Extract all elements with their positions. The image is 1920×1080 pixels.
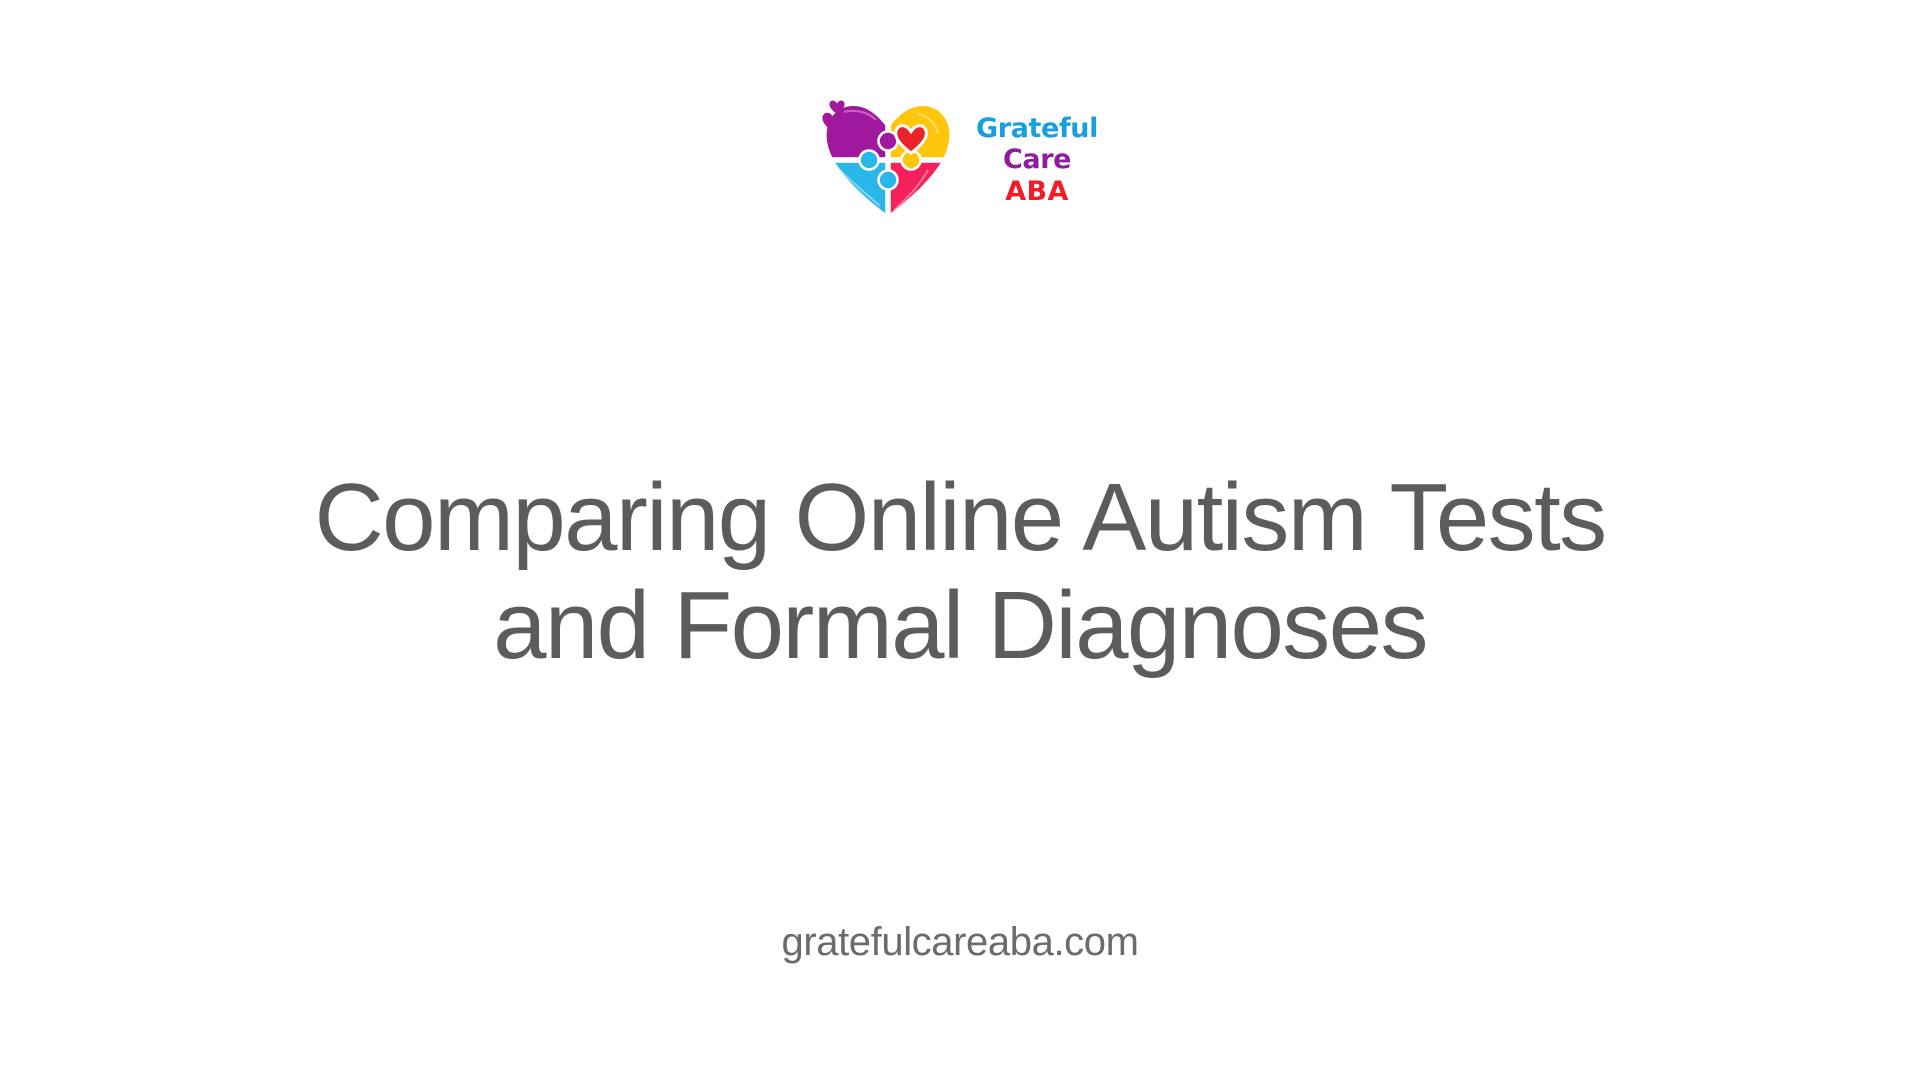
heart-puzzle-logo-icon <box>822 100 954 218</box>
footer-website-url-text: gratefulcareaba.com <box>781 920 1138 964</box>
page-title-line-1: Comparing Online Autism Tests <box>140 464 1780 572</box>
page-title-line-2: and Formal Diagnoses <box>140 572 1780 680</box>
brand-wordmark: Grateful Care ABA <box>976 113 1098 206</box>
brand-wordmark-line-care: Care <box>1003 146 1071 174</box>
brand-wordmark-line-grateful: Grateful <box>976 115 1098 143</box>
brand-logo[interactable]: Grateful Care ABA <box>822 100 1098 218</box>
footer-website-url[interactable]: gratefulcareaba.com <box>0 920 1920 965</box>
page-title: Comparing Online Autism Tests and Formal… <box>0 464 1920 679</box>
brand-wordmark-line-aba: ABA <box>1005 178 1069 206</box>
slide-canvas: Grateful Care ABA Comparing Online Autis… <box>0 0 1920 1080</box>
